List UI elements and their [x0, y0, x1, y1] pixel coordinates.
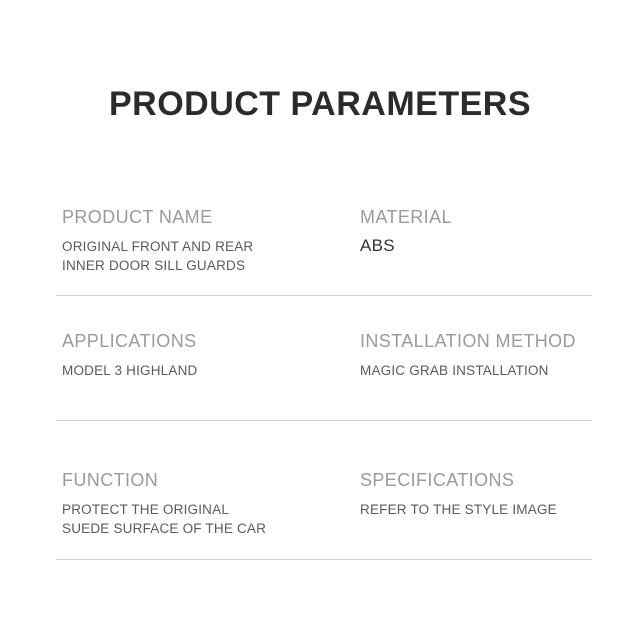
- spec-label: MATERIAL: [360, 206, 592, 228]
- spec-row: APPLICATIONS MODEL 3 HIGHLAND INSTALLATI…: [56, 296, 592, 421]
- spec-value-line: INNER DOOR SILL GUARDS: [62, 256, 358, 275]
- spec-value-line: PROTECT THE ORIGINAL: [62, 500, 358, 519]
- spec-label: FUNCTION: [62, 469, 358, 491]
- spec-value: PROTECT THE ORIGINALSUEDE SURFACE OF THE…: [62, 500, 358, 538]
- spec-cell-product-name: PRODUCT NAME ORIGINAL FRONT AND REARINNE…: [56, 200, 358, 275]
- spec-value-line: MODEL 3 HIGHLAND: [62, 361, 358, 380]
- spec-table: PRODUCT NAME ORIGINAL FRONT AND REARINNE…: [56, 200, 592, 560]
- spec-cell-function: FUNCTION PROTECT THE ORIGINALSUEDE SURFA…: [56, 421, 358, 538]
- spec-label: PRODUCT NAME: [62, 206, 358, 228]
- spec-cell-installation-method: INSTALLATION METHOD MAGIC GRAB INSTALLAT…: [358, 296, 592, 380]
- spec-label: APPLICATIONS: [62, 330, 358, 352]
- spec-value-line: ABS: [360, 235, 592, 257]
- spec-value-line: ORIGINAL FRONT AND REAR: [62, 237, 358, 256]
- page-title: PRODUCT PARAMETERS: [0, 84, 640, 124]
- spec-label: SPECIFICATIONS: [360, 469, 592, 491]
- spec-row: FUNCTION PROTECT THE ORIGINALSUEDE SURFA…: [56, 421, 592, 560]
- spec-cell-material: MATERIAL ABS: [358, 200, 592, 257]
- spec-value-line: SUEDE SURFACE OF THE CAR: [62, 519, 358, 538]
- spec-value: ORIGINAL FRONT AND REARINNER DOOR SILL G…: [62, 237, 358, 275]
- spec-value: MAGIC GRAB INSTALLATION: [360, 361, 592, 380]
- spec-value: MODEL 3 HIGHLAND: [62, 361, 358, 380]
- spec-value: ABS: [360, 235, 592, 257]
- spec-label: INSTALLATION METHOD: [360, 330, 592, 352]
- spec-value: REFER TO THE STYLE IMAGE: [360, 500, 592, 519]
- spec-row: PRODUCT NAME ORIGINAL FRONT AND REARINNE…: [56, 200, 592, 296]
- spec-cell-applications: APPLICATIONS MODEL 3 HIGHLAND: [56, 296, 358, 380]
- spec-value-line: MAGIC GRAB INSTALLATION: [360, 361, 592, 380]
- spec-value-line: REFER TO THE STYLE IMAGE: [360, 500, 592, 519]
- spec-cell-specifications: SPECIFICATIONS REFER TO THE STYLE IMAGE: [358, 421, 592, 519]
- product-parameters-page: PRODUCT PARAMETERS PRODUCT NAME ORIGINAL…: [0, 0, 640, 640]
